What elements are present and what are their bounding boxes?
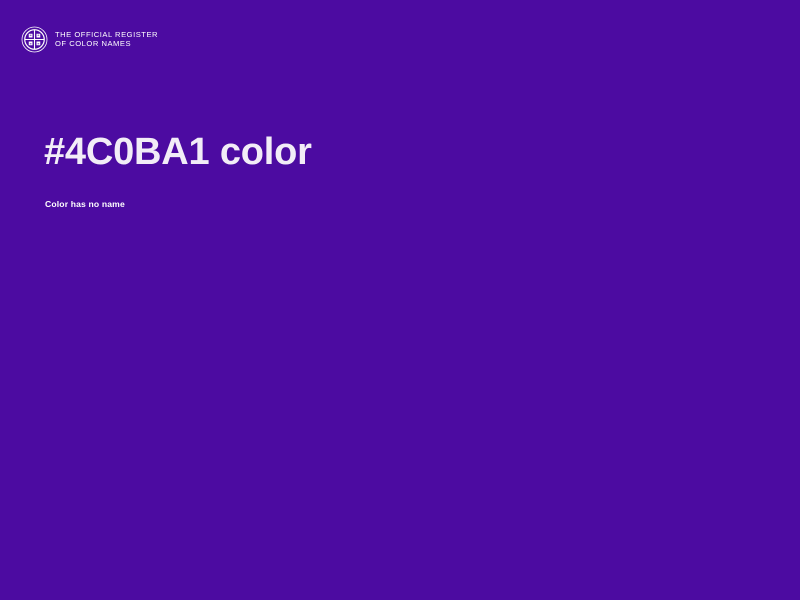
page-title: #4C0BA1 color [44, 131, 312, 174]
brand-wordmark: THE OFFICIAL REGISTER OF COLOR NAMES [55, 31, 158, 49]
brand-wordmark-line-2: OF COLOR NAMES [55, 40, 158, 49]
official-register-seal-icon [21, 26, 48, 53]
color-detail-page: THE OFFICIAL REGISTER OF COLOR NAMES #4C… [0, 0, 800, 600]
brand-lockup[interactable]: THE OFFICIAL REGISTER OF COLOR NAMES [21, 26, 158, 53]
color-name-status: Color has no name [45, 199, 125, 209]
